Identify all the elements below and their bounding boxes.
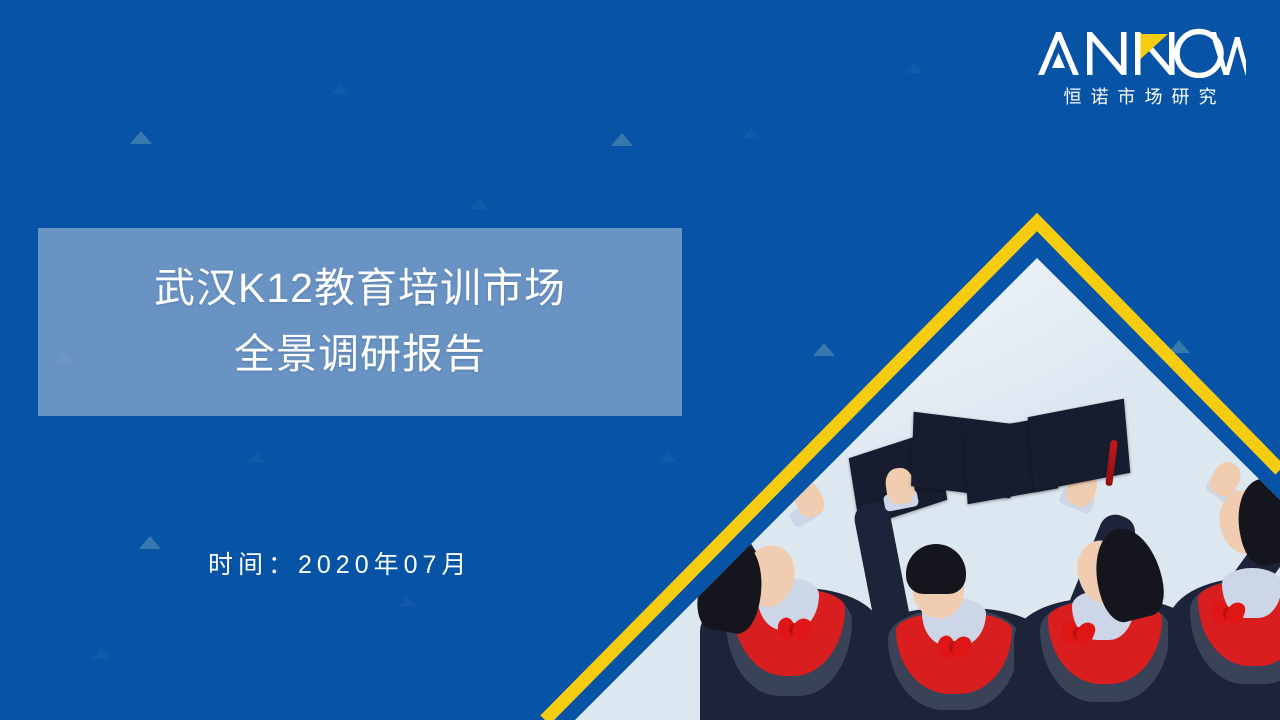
- decorative-triangle-icon: [330, 84, 348, 95]
- title-panel: 武汉K12教育培训市场 全景调研报告: [38, 228, 682, 416]
- brand-subtitle: 恒诺市场研究: [1055, 83, 1226, 109]
- decorative-triangle-icon: [742, 128, 760, 139]
- decorative-triangle-icon: [248, 452, 266, 463]
- decorative-triangle-icon: [139, 536, 161, 549]
- decorative-triangle-icon: [1168, 340, 1190, 353]
- title-line-1: 武汉K12教育培训市场: [154, 266, 566, 312]
- decorative-triangle-icon: [92, 648, 110, 659]
- decorative-triangle-icon: [660, 452, 678, 463]
- decorative-triangle-icon: [905, 62, 923, 73]
- title-line-2: 全景调研报告: [234, 332, 486, 378]
- decorative-triangle-icon: [470, 198, 488, 209]
- decorative-triangle-icon: [130, 131, 152, 144]
- brand-logo: 恒诺市场研究: [1034, 28, 1246, 109]
- decorative-triangle-icon: [611, 133, 633, 146]
- decorative-triangle-icon: [813, 343, 835, 356]
- decorative-triangle-icon: [398, 596, 416, 607]
- annow-wordmark-icon: [1034, 28, 1246, 78]
- slide-canvas: 武汉K12教育培训市场 全景调研报告 时间：2020年07月 恒诺市场研究: [0, 0, 1280, 720]
- report-date: 时间：2020年07月: [208, 545, 471, 581]
